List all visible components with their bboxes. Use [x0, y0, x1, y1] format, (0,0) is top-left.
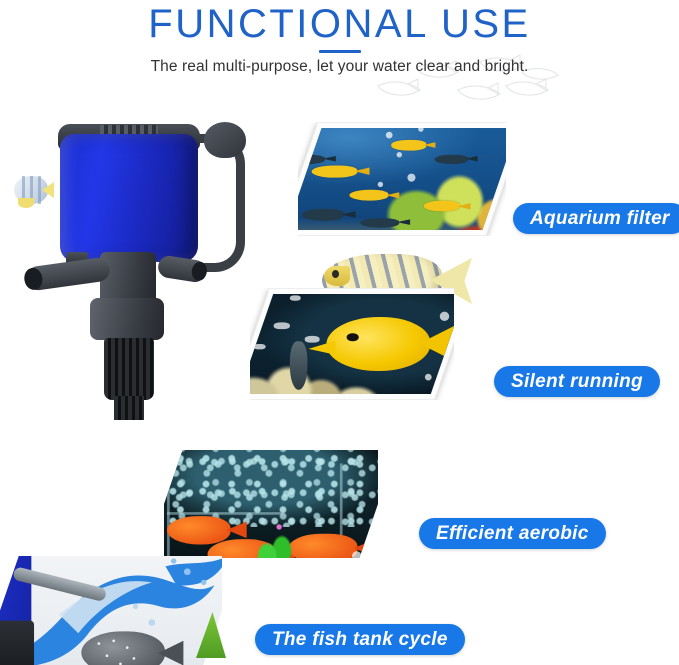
- feature-badge-aquarium-filter[interactable]: Aquarium filter: [513, 203, 679, 234]
- feature-badge-silent-running[interactable]: Silent running: [494, 366, 660, 397]
- pump-left-nozzle: [25, 256, 112, 291]
- feature-badge-fish-tank-cycle[interactable]: The fish tank cycle: [255, 624, 465, 655]
- header: FUNCTIONAL USE The real multi-purpose, l…: [0, 0, 679, 100]
- feature-badge-efficient-aerobic[interactable]: Efficient aerobic: [419, 518, 606, 549]
- pump-collar: [90, 298, 164, 340]
- feature-photo-efficient-aerobic: [164, 450, 378, 558]
- feature-photo-aquarium-filter: [298, 122, 506, 236]
- pump-intake-stem: [114, 396, 144, 420]
- title-divider: [319, 50, 361, 53]
- mini-pump-base: [0, 621, 34, 665]
- pufferfish-icon: [81, 631, 165, 665]
- pump-blue-body: [60, 134, 198, 262]
- page-subtitle: The real multi-purpose, let your water c…: [0, 58, 679, 76]
- functional-use-poster: FUNCTIONAL USE The real multi-purpose, l…: [0, 0, 679, 665]
- decorative-angelfish-icon: [8, 168, 56, 212]
- pump-intake-strainer: [104, 338, 154, 400]
- page-title: FUNCTIONAL USE: [0, 2, 679, 46]
- feature-photo-fish-tank-cycle: [0, 556, 222, 665]
- product-pump-image: [8, 112, 248, 412]
- pump-outlet-knob: [204, 122, 246, 158]
- angelfish-stripe: [38, 176, 41, 204]
- angelfish-fin: [18, 198, 34, 208]
- feature-photo-silent-running: [250, 288, 454, 400]
